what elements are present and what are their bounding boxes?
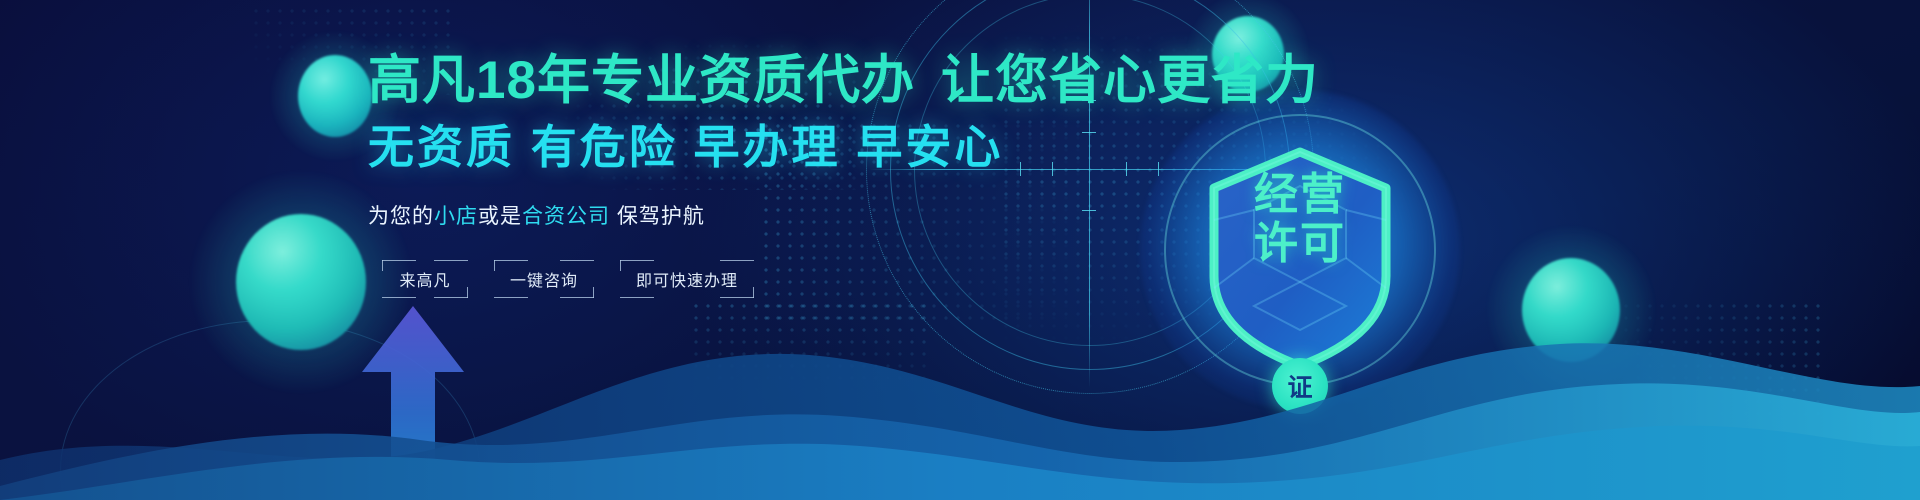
- tag-button-label: 一键咨询: [510, 273, 578, 290]
- tagline-middle: 或是: [478, 205, 522, 228]
- promo-banner: 经营 许可 证: [0, 0, 1920, 500]
- tagline-highlight-1: 小店: [434, 205, 478, 228]
- tag-corner: [467, 287, 468, 298]
- tag-corner: [382, 260, 383, 271]
- tagline-prefix: 为您的: [368, 205, 434, 228]
- tag-corner: [593, 287, 594, 298]
- tag-corner: [560, 260, 594, 261]
- headline-primary-part1: 高凡18年专业资质代办: [368, 51, 915, 110]
- shield-label-line2: 许可: [1140, 219, 1460, 268]
- shield-label: 经营 许可: [1140, 170, 1460, 269]
- tag-button-label: 即可快速办理: [636, 273, 738, 290]
- headline-secondary: 无资质 有危险 早办理 早安心: [368, 122, 1188, 174]
- tagline-highlight-2: 合资公司: [522, 205, 610, 228]
- headline-primary: 高凡18年专业资质代办让您省心更省力: [368, 52, 1188, 110]
- tagline: 为您的小店或是合资公司 保驾护航: [368, 200, 1188, 230]
- headline-copy-block: 高凡18年专业资质代办让您省心更省力 无资质 有危险 早办理 早安心 为您的小店…: [368, 52, 1188, 230]
- tag-corner: [382, 297, 416, 298]
- tag-button-label: 来高凡: [399, 273, 450, 290]
- glow-sphere-1: [298, 55, 372, 137]
- tag-corner: [434, 260, 468, 261]
- tag-corner: [720, 260, 754, 261]
- wave-decoration: [0, 300, 1920, 500]
- shield-label-line1: 经营: [1140, 170, 1460, 219]
- tag-corner: [494, 297, 528, 298]
- tag-button-come-gaofan[interactable]: 来高凡: [382, 260, 468, 298]
- tag-corner: [620, 297, 654, 298]
- tagline-suffix: 保驾护航: [610, 205, 705, 228]
- tag-corner: [494, 260, 495, 271]
- tag-corner: [753, 287, 754, 298]
- tag-button-group: 来高凡 一键咨询 即可快速办理: [382, 260, 754, 298]
- tag-button-one-click-consult[interactable]: 一键咨询: [494, 260, 594, 298]
- headline-primary-part2: 让您省心更省力: [941, 51, 1319, 110]
- tag-button-fast-processing[interactable]: 即可快速办理: [620, 260, 754, 298]
- tag-corner: [620, 260, 621, 271]
